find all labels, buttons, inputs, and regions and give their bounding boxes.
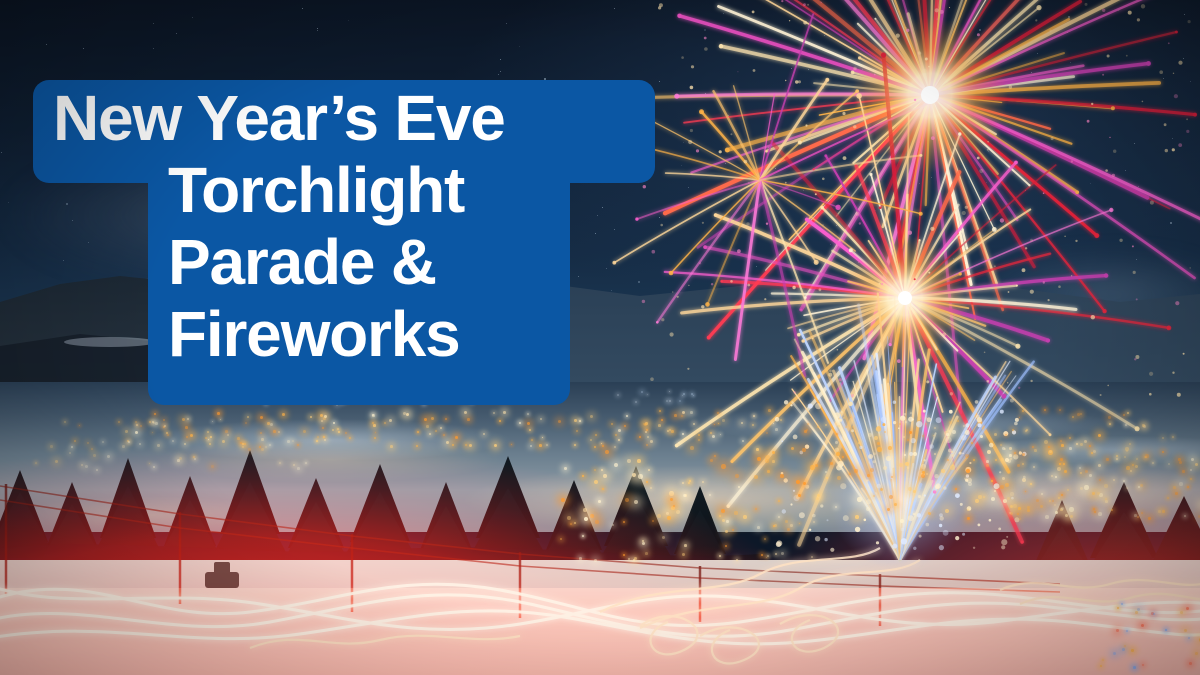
title-block: New Year’s Eve Torchlight Parade & Firew… xyxy=(0,0,700,430)
event-poster: New Year’s Eve Torchlight Parade & Firew… xyxy=(0,0,1200,675)
title-line-3: Parade & xyxy=(168,226,436,298)
title-line-2: Torchlight xyxy=(168,154,464,226)
title-line-4: Fireworks xyxy=(168,298,460,370)
title-line-1: New Year’s Eve xyxy=(53,82,505,154)
torchlight-slope-glow xyxy=(0,588,1200,675)
title-plate-joiner-right xyxy=(450,150,570,200)
